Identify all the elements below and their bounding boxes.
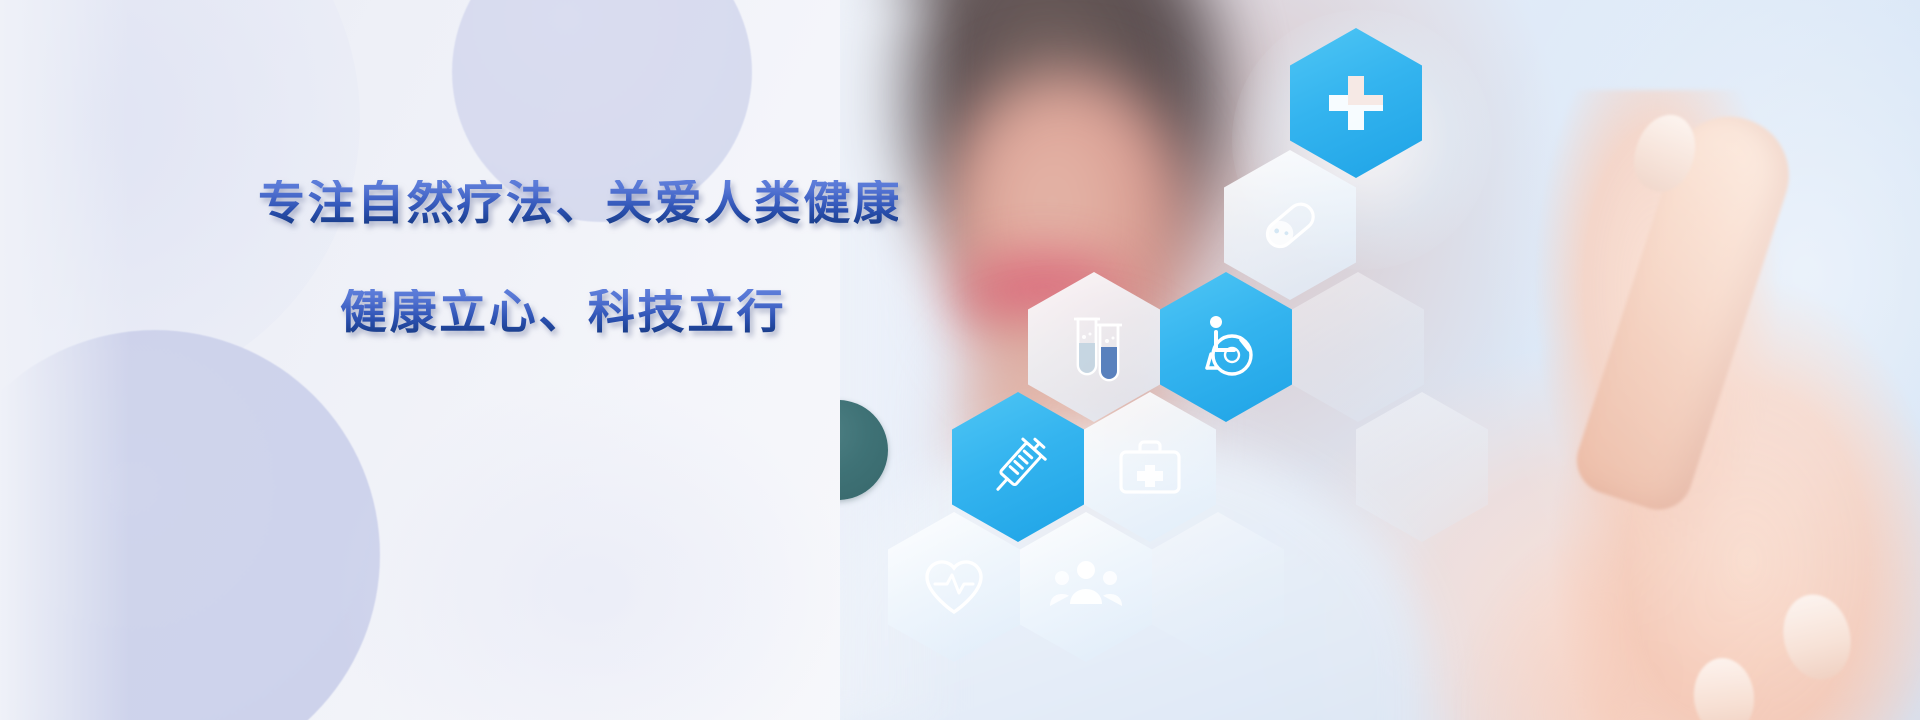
photo-blend-gradient — [0, 0, 130, 720]
headline-line-1: 专注自然疗法、关爱人类健康 — [258, 180, 898, 227]
decorative-circle-bottom-left — [0, 330, 380, 720]
headline-line-2: 健康立心、科技立行 — [340, 289, 898, 336]
doctor-photo-composition — [840, 0, 1920, 720]
hero-banner: 专注自然疗法、关爱人类健康 健康立心、科技立行 — [0, 0, 1920, 720]
headline-block: 专注自然疗法、关爱人类健康 健康立心、科技立行 — [258, 180, 898, 336]
background-wash-middle — [330, 380, 850, 720]
